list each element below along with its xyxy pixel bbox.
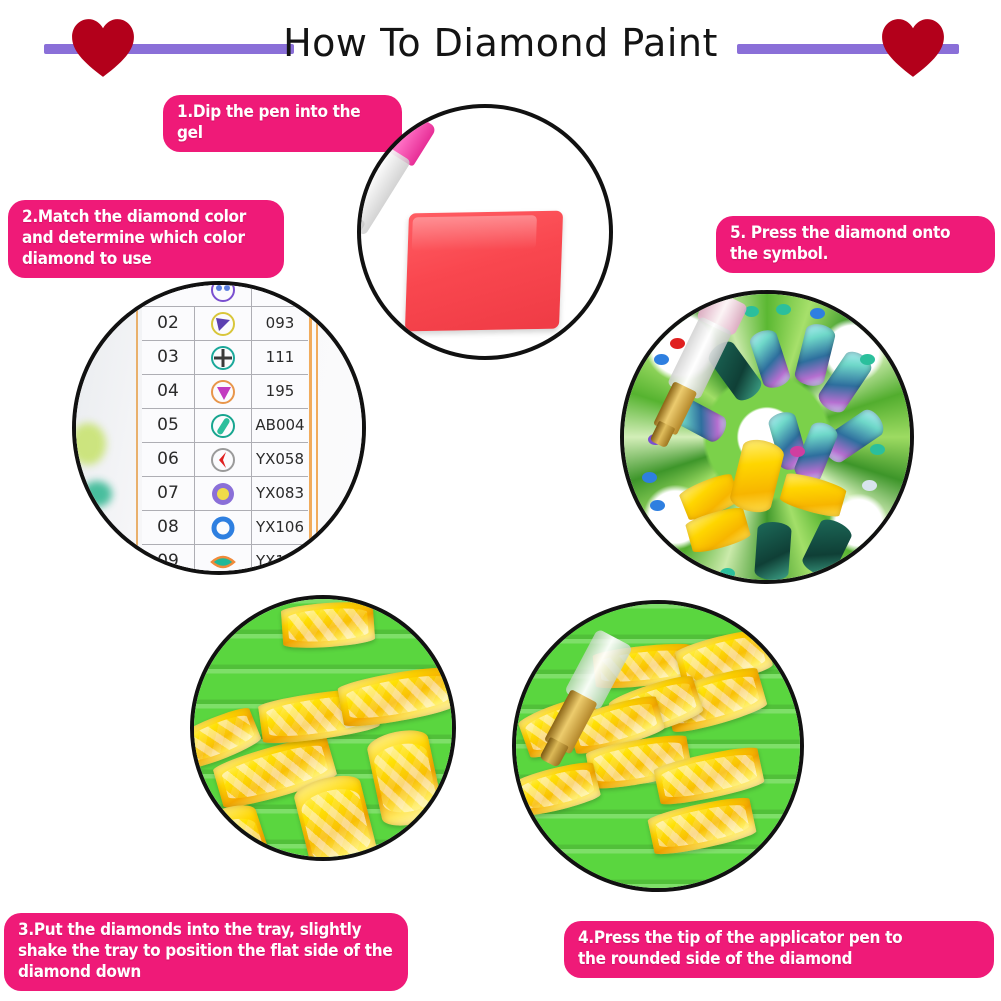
chart-code-cell: AB004 — [252, 409, 308, 442]
step-5-label: 5. Press the diamond onto the symbol. — [716, 216, 995, 273]
chart-code-cell: YX106 — [252, 511, 308, 544]
small-gem-dot — [650, 500, 665, 511]
chart-number-cell: 08 — [142, 511, 195, 544]
table-row: 03111 — [142, 341, 308, 375]
diagonal-capsule-icon — [195, 409, 252, 442]
step-2-photo: 02802093031110419505AB00406YX05807YX0830… — [72, 281, 366, 575]
small-gem-dot — [776, 304, 791, 315]
table-row: 09YX125 — [142, 545, 308, 575]
chart-number-cell: 09 — [142, 545, 195, 575]
table-row: 04195 — [142, 375, 308, 409]
small-gem-dot — [720, 568, 735, 579]
chart-margin-line — [136, 285, 138, 571]
gem-facets — [287, 606, 370, 643]
chart-code-cell: YX083 — [252, 477, 308, 510]
plus-cross-icon — [195, 341, 252, 374]
step-1-photo — [357, 104, 613, 360]
table-row: 028 — [142, 281, 308, 307]
gel-pad — [405, 211, 563, 332]
small-gem-dot — [834, 562, 849, 573]
gem-facets — [371, 739, 438, 817]
gem-facets — [299, 784, 374, 861]
step-2-label: 2.Match the diamond color and determine … — [8, 200, 284, 278]
chart-code-cell: 195 — [252, 375, 308, 408]
circle-two-dots-icon — [195, 281, 252, 306]
small-gem-dot — [642, 472, 657, 483]
table-row: 08YX106 — [142, 511, 308, 545]
open-ring-icon — [195, 511, 252, 544]
chart-margin-line — [309, 285, 312, 571]
chart-code-cell: YX125 — [252, 545, 308, 575]
diamond-gem — [754, 521, 792, 581]
triangle-filled-icon — [195, 307, 252, 340]
chart-code-cell: YX058 — [252, 443, 308, 476]
table-row: 02093 — [142, 307, 308, 341]
chart-number-cell: 06 — [142, 443, 195, 476]
step-3-photo — [190, 595, 456, 861]
small-gem-dot — [870, 444, 885, 455]
chart-number-cell: 07 — [142, 477, 195, 510]
dot-in-ring-icon — [195, 477, 252, 510]
step-5-photo — [620, 290, 914, 584]
chart-code-cell: 028 — [252, 281, 308, 306]
chart-number-cell: 02 — [142, 307, 195, 340]
small-gem-dot — [654, 354, 669, 365]
small-gem-dot — [790, 446, 805, 457]
step-4-label: 4.Press the tip of the applicator pen to… — [564, 921, 994, 978]
page-title: How To Diamond Paint — [0, 16, 1001, 70]
chevron-left-icon — [195, 443, 252, 476]
small-gem-dot — [860, 354, 875, 365]
chart-code-cell: 111 — [252, 341, 308, 374]
diamond-gem — [281, 600, 376, 650]
step-4-photo — [512, 600, 804, 892]
triangle-down-icon — [195, 375, 252, 408]
infographic-canvas: How To Diamond Paint 1.Dip the pen into … — [0, 0, 1001, 1001]
chart-code-cell: 093 — [252, 307, 308, 340]
chart-margin-line — [316, 285, 318, 571]
step-3-label: 3.Put the diamonds into the tray, slight… — [4, 913, 408, 991]
leaf-eye-icon — [195, 545, 252, 575]
small-gem-dot — [862, 480, 877, 491]
color-symbol-table: 02802093031110419505AB00406YX05807YX0830… — [142, 281, 308, 575]
table-row: 06YX058 — [142, 443, 308, 477]
chart-number-cell: 04 — [142, 375, 195, 408]
small-gem-dot — [810, 308, 825, 319]
canvas-color-blur — [82, 481, 112, 507]
header-banner: How To Diamond Paint — [0, 0, 1001, 92]
table-row: 05AB004 — [142, 409, 308, 443]
chart-number-cell: 03 — [142, 341, 195, 374]
table-row: 07YX083 — [142, 477, 308, 511]
chart-number-cell: 05 — [142, 409, 195, 442]
